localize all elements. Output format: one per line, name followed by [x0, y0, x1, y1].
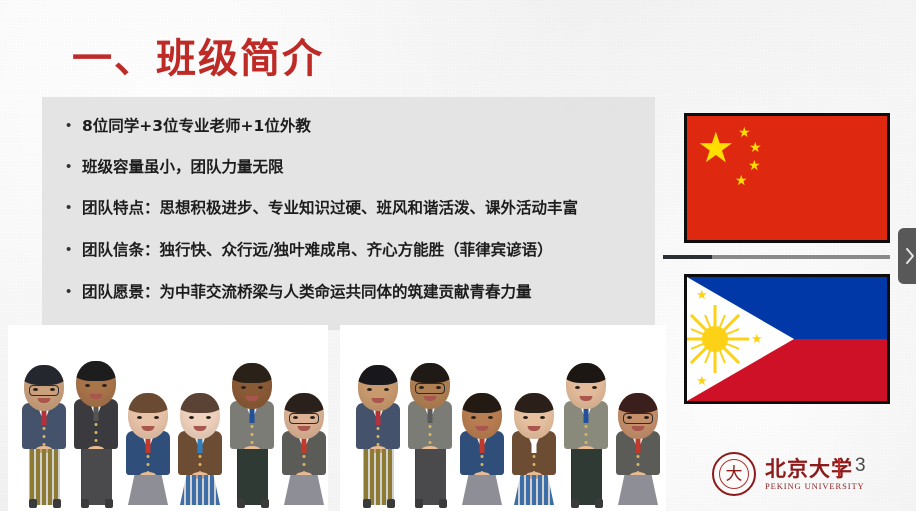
bullet-text: 团队愿景：为中菲交流桥梁与人类命运共同体的筑建贡献青春力量	[82, 282, 532, 302]
class-photo-right	[340, 325, 666, 511]
person-button	[251, 425, 254, 428]
person-leg	[189, 505, 194, 511]
person-eye	[154, 416, 159, 419]
chevron-right-icon	[905, 248, 915, 264]
person-head	[618, 393, 658, 439]
person-skirt	[618, 475, 658, 505]
person-shoe	[29, 499, 37, 508]
person-head	[462, 393, 502, 439]
person-tie	[94, 405, 99, 421]
person-tie	[302, 437, 307, 453]
presentation-slide: 一、班级简介 • 8位同学+3位专业老师+1位外教 • 班级容量虽小，团队力量无…	[0, 0, 916, 511]
person-tie	[584, 407, 589, 423]
person-button	[533, 455, 536, 458]
person-legs	[81, 449, 112, 505]
philippines-flag: ★ ★ ★	[687, 277, 887, 401]
person-button	[95, 439, 98, 442]
pku-seal-mark: 大	[726, 466, 743, 483]
person-button	[251, 433, 254, 436]
person-legs	[363, 449, 394, 505]
person-mouth	[38, 398, 51, 403]
person-eye	[523, 416, 528, 419]
person-shoe	[105, 499, 113, 508]
person-button	[199, 455, 202, 458]
person-tie	[198, 437, 203, 453]
person-eye	[575, 386, 580, 389]
bullet-text: 8位同学+3位专业老师+1位外教	[82, 116, 311, 136]
person-button	[303, 455, 306, 458]
person-hair	[24, 365, 64, 385]
pku-seal-icon: 大	[712, 452, 756, 496]
person-shoe	[81, 499, 89, 508]
person-shoe	[387, 499, 395, 508]
person-eye	[206, 416, 211, 419]
person-skirt	[514, 475, 554, 505]
bullet-dot-icon: •	[66, 282, 82, 302]
person-glasses-icon	[29, 385, 59, 396]
philippines-flag-sun-icon	[702, 326, 728, 352]
person-head	[180, 393, 220, 439]
person-button	[481, 455, 484, 458]
person-body	[282, 431, 326, 505]
person-eye	[241, 386, 246, 389]
person-head	[284, 393, 324, 439]
person-button	[95, 423, 98, 426]
class-photo-strip	[0, 325, 672, 511]
person-hair	[232, 363, 272, 383]
person-legs	[571, 449, 602, 505]
person-button	[251, 441, 254, 444]
person-mouth	[528, 426, 541, 431]
person-leg	[540, 505, 545, 511]
page-title: 一、班级简介	[72, 26, 324, 84]
person-mouth	[90, 394, 103, 399]
person-mouth	[424, 396, 437, 401]
list-item: • 8位同学+3位专业老师+1位外教	[66, 116, 645, 136]
pku-wordmark: 北京大学 PEKING UNIVERSITY	[765, 458, 865, 491]
person-button	[43, 427, 46, 430]
person-legs	[29, 449, 60, 505]
person-button	[429, 441, 432, 444]
person-eye	[102, 384, 107, 387]
person-hair	[128, 393, 168, 413]
next-slide-button[interactable]	[898, 228, 916, 284]
person-legs	[415, 449, 446, 505]
person-button	[585, 433, 588, 436]
philippines-flag-star: ★	[751, 332, 763, 345]
person-hair	[76, 361, 116, 381]
person-leg	[644, 505, 649, 511]
person-mouth	[142, 426, 155, 431]
person-button	[95, 431, 98, 434]
person-hair	[358, 365, 398, 385]
person-mouth	[194, 426, 207, 431]
slide-progress-scrollbar[interactable]	[663, 255, 890, 259]
person-button	[533, 463, 536, 466]
person-shoe	[363, 499, 371, 508]
person-mouth	[246, 396, 259, 401]
university-name-en: PEKING UNIVERSITY	[765, 482, 865, 491]
person-leg	[523, 505, 528, 511]
person-eye	[367, 388, 372, 391]
person-button	[147, 463, 150, 466]
person-button	[585, 425, 588, 428]
person-eye	[384, 388, 389, 391]
person-legs	[237, 449, 268, 505]
person-tie	[636, 437, 641, 453]
person-eye	[471, 416, 476, 419]
person-shoe	[53, 499, 61, 508]
person-body	[356, 403, 400, 505]
person-hair	[566, 363, 606, 383]
person-hair	[410, 363, 450, 383]
list-item: • 团队信条：独行快、众行远/独叶难成帛、齐心方能胜（菲律宾谚语）	[66, 240, 645, 260]
person-skirt	[180, 475, 220, 505]
person-skirt	[284, 475, 324, 505]
list-item: • 团队特点：思想积极进步、专业知识过硬、班风和谐活泼、课外活动丰富	[66, 198, 645, 218]
person-glasses-icon	[623, 413, 653, 424]
china-flag-frame: ★ ★ ★ ★ ★	[684, 113, 890, 243]
china-flag-star-small: ★	[749, 140, 762, 154]
person-leg	[293, 505, 298, 511]
person-head	[232, 363, 272, 409]
china-flag-star-small: ★	[748, 158, 761, 172]
person-button	[377, 435, 380, 438]
person-glasses-icon	[415, 383, 445, 394]
person-tie	[480, 437, 485, 453]
person-button	[43, 435, 46, 438]
bullet-text: 团队信条：独行快、众行远/独叶难成帛、齐心方能胜（菲律宾谚语）	[82, 240, 553, 260]
china-flag-star-small: ★	[738, 125, 751, 139]
person-tie	[146, 437, 151, 453]
person-button	[199, 463, 202, 466]
person-mouth	[580, 396, 593, 401]
person-body	[22, 403, 66, 505]
person-body	[616, 431, 660, 505]
person-skirt	[128, 475, 168, 505]
bullet-text: 团队特点：思想积极进步、专业知识过硬、班风和谐活泼、课外活动丰富	[82, 198, 578, 218]
china-flag-star-small: ★	[735, 173, 748, 187]
person-eye	[137, 416, 142, 419]
china-flag: ★ ★ ★ ★ ★	[687, 116, 887, 240]
person-eye	[85, 384, 90, 387]
person-hair	[514, 393, 554, 413]
slide-progress-fill	[663, 255, 712, 259]
person-tie	[376, 409, 381, 425]
person-eye	[189, 416, 194, 419]
person-button	[637, 455, 640, 458]
bullet-dot-icon: •	[66, 157, 82, 177]
person-shoe	[439, 499, 447, 508]
person-leg	[310, 505, 315, 511]
person-leg	[471, 505, 476, 511]
philippines-flag-star: ★	[696, 288, 708, 301]
person-leg	[206, 505, 211, 511]
person-button	[147, 455, 150, 458]
person-hair	[618, 393, 658, 413]
person-hair	[180, 393, 220, 413]
class-photo-left	[8, 325, 328, 511]
person-eye	[592, 386, 597, 389]
person-shoe	[237, 499, 245, 508]
philippines-flag-star: ★	[696, 374, 708, 387]
person-body	[512, 431, 556, 505]
person-shoe	[595, 499, 603, 508]
philippines-flag-frame: ★ ★ ★	[684, 274, 890, 404]
person-eye	[258, 386, 263, 389]
person-skirt	[462, 475, 502, 505]
person-shoe	[261, 499, 269, 508]
person-head	[76, 361, 116, 407]
person-button	[585, 441, 588, 444]
person-head	[514, 393, 554, 439]
person-head	[566, 363, 606, 409]
person-leg	[154, 505, 159, 511]
footer-separator	[838, 458, 840, 477]
person-mouth	[298, 426, 311, 431]
person-button	[429, 425, 432, 428]
person-body	[564, 401, 608, 505]
person-body	[408, 401, 452, 505]
person-shoe	[571, 499, 579, 508]
person-glasses-icon	[289, 413, 319, 424]
bullet-dot-icon: •	[66, 116, 82, 136]
person-head	[410, 363, 450, 409]
content-panel: • 8位同学+3位专业老师+1位外教 • 班级容量虽小，团队力量无限 • 团队特…	[42, 97, 655, 330]
person-tie	[42, 409, 47, 425]
person-button	[377, 427, 380, 430]
person-button	[303, 463, 306, 466]
person-eye	[488, 416, 493, 419]
page-number: 3	[855, 455, 866, 477]
person-tie	[428, 407, 433, 423]
person-button	[429, 433, 432, 436]
person-head	[24, 365, 64, 411]
list-item: • 班级容量虽小，团队力量无限	[66, 157, 645, 177]
person-head	[128, 393, 168, 439]
university-name-cn: 北京大学	[765, 458, 865, 479]
person-leg	[488, 505, 493, 511]
person-shoe	[415, 499, 423, 508]
person-mouth	[372, 398, 385, 403]
person-eye	[540, 416, 545, 419]
person-button	[637, 463, 640, 466]
peking-university-logo: 大 北京大学 PEKING UNIVERSITY	[712, 452, 865, 496]
bullet-text: 班级容量虽小，团队力量无限	[82, 157, 284, 177]
person-body	[230, 401, 274, 505]
person-mouth	[476, 426, 489, 431]
person-leg	[137, 505, 142, 511]
person-hair	[462, 393, 502, 413]
china-flag-star-large: ★	[697, 127, 735, 169]
person-body	[178, 431, 222, 505]
person-button	[481, 463, 484, 466]
person-head	[358, 365, 398, 411]
person-tie	[250, 407, 255, 423]
person-body	[460, 431, 504, 505]
person-body	[74, 399, 118, 505]
person-leg	[627, 505, 632, 511]
bullet-dot-icon: •	[66, 240, 82, 260]
person-hair	[284, 393, 324, 413]
person-tie	[532, 437, 537, 453]
person-mouth	[632, 426, 645, 431]
person-body	[126, 431, 170, 505]
list-item: • 团队愿景：为中菲交流桥梁与人类命运共同体的筑建贡献青春力量	[66, 282, 645, 302]
bullet-dot-icon: •	[66, 198, 82, 218]
